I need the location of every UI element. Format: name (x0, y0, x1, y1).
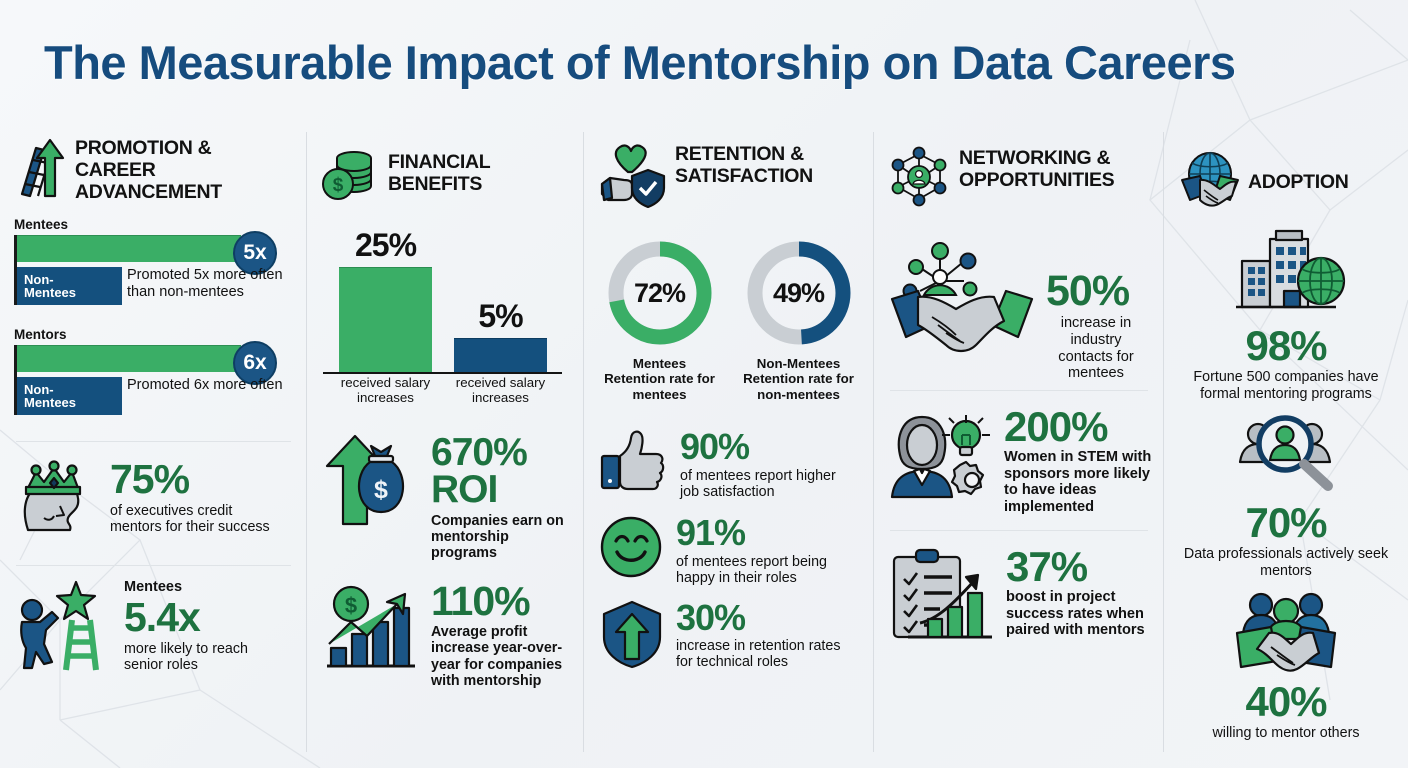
stat-body: 50% increase in industry contacts for me… (1046, 229, 1146, 382)
stat-willing-mentor: 40% willing to mentor others (1178, 589, 1394, 742)
donut-subtitle: Retention rate for mentees (598, 371, 721, 402)
stat-senior-roles: Mentees 5.4x more likely to reach senior… (14, 578, 293, 681)
stat-project-success: 37% boost in project success rates when … (888, 545, 1150, 646)
building-globe-icon (1178, 225, 1394, 322)
retention-donuts: 72% Mentees Retention rate for mentees 4… (598, 237, 860, 402)
chart-bar-mentees: 25% received salary increases (339, 267, 432, 372)
stat-desc: increase in retention rates for technica… (676, 638, 856, 671)
globe-handshake-icon (1178, 148, 1242, 215)
handshake-network-icon (888, 229, 1036, 366)
stat-body: 90% of mentees report higher job satisfa… (680, 428, 858, 500)
column-retention: RETENTION & SATISFACTION 72% Mentees Ret… (584, 128, 874, 768)
infographic-root: The Measurable Impact of Mentorship on D… (0, 0, 1408, 768)
divider (16, 565, 291, 566)
stat-body: 75% of executives credit mentors for the… (110, 458, 275, 535)
bar-note-mentees: Promoted 5x more often than non-mentees (127, 267, 302, 299)
column-financial: $ FINANCIAL BENEFITS 25% received salary… (307, 128, 584, 768)
ladder-arrow-icon (14, 136, 66, 203)
section-header-financial: $ FINANCIAL BENEFITS (321, 150, 570, 209)
section-title: NETWORKING & OPPORTUNITIES (959, 146, 1150, 192)
stat-profit-increase: $ 110% Average profit increase year-over… (321, 580, 570, 690)
stat-executives-credit: 75% of executives credit mentors for the… (14, 458, 293, 549)
stat-number: 5.4x (124, 598, 274, 637)
donut-percent: 72% (604, 237, 716, 349)
thumbs-up-icon (598, 428, 670, 499)
svg-text:$: $ (333, 175, 344, 196)
bar-group-label: Mentors (14, 327, 293, 342)
stat-number: 75% (110, 460, 275, 499)
up-arrow-money-bag-icon: $ (321, 432, 421, 535)
section-title: FINANCIAL BENEFITS (388, 150, 538, 196)
stat-number: 110% (431, 582, 583, 621)
columns-container: PROMOTION & CAREER ADVANCEMENT Mentees N… (0, 128, 1408, 768)
stat-number: 40% (1178, 682, 1394, 722)
bar-category-label: received salary increases (327, 372, 444, 406)
stat-women-stem: 200% Women in STEM with sponsors more li… (888, 405, 1150, 516)
crown-head-icon (14, 458, 100, 549)
section-header-networking: NETWORKING & OPPORTUNITIES (888, 146, 1150, 213)
stat-body: 670% ROI Companies earn on mentorship pr… (431, 432, 576, 562)
bar-blue-label-line1: Non- (24, 383, 122, 397)
page-title: The Measurable Impact of Mentorship on D… (44, 38, 1384, 87)
stat-body: 30% increase in retention rates for tech… (676, 599, 856, 671)
bar-value-label: 5% (454, 298, 547, 335)
coins-dollar-icon: $ (321, 150, 379, 209)
stat-number: 30% (676, 601, 856, 636)
bar-green-mentees (17, 235, 241, 262)
bar-rect (339, 267, 432, 372)
dollar-growth-chart-icon: $ (321, 580, 421, 677)
stat-fortune500: 98% Fortune 500 companies have formal me… (1178, 225, 1394, 402)
stat-desc: more likely to reach senior roles (124, 641, 274, 674)
bar-note-mentors: Promoted 6x more often (127, 377, 302, 393)
column-promotion: PROMOTION & CAREER ADVANCEMENT Mentees N… (0, 128, 307, 768)
section-title: ADOPTION (1248, 170, 1349, 194)
donut-chart: 49% (743, 237, 855, 349)
stat-happy-roles: 91% of mentees report being happy in the… (598, 514, 860, 586)
stat-number: 50% (1046, 271, 1146, 312)
stat-desc: of mentees report higher job satisfactio… (680, 468, 858, 501)
person-ladder-star-icon (14, 578, 114, 681)
stat-desc: Fortune 500 companies have formal mentor… (1178, 369, 1394, 402)
woman-bulb-gear-icon (888, 405, 994, 506)
stat-desc: of executives credit mentors for their s… (110, 503, 275, 536)
section-title: RETENTION & SATISFACTION (675, 142, 855, 188)
financial-bar-chart: 25% received salary increases 5% receive… (321, 229, 570, 404)
bar-category-label: received salary increases (442, 372, 559, 406)
stat-body: 110% Average profit increase year-over-y… (431, 580, 583, 690)
donut-chart: 72% (604, 237, 716, 349)
stat-number: 90% (680, 430, 858, 465)
stat-technical-retention: 30% increase in retention rates for tech… (598, 599, 860, 674)
stat-body: 200% Women in STEM with sponsors more li… (1004, 405, 1156, 516)
stat-job-satisfaction: 90% of mentees report higher job satisfa… (598, 428, 860, 500)
donut-non-mentees: 49% Non-Mentees Retention rate for non-m… (737, 237, 860, 402)
column-adoption: ADOPTION (1164, 128, 1408, 768)
bar-rect (454, 338, 547, 372)
svg-text:$: $ (374, 476, 388, 504)
stat-desc: Average profit increase year-over-year f… (431, 624, 583, 689)
bar-blue-label-line1: Non- (24, 273, 122, 287)
bar-blue-label-line2: Mentees (24, 396, 122, 410)
divider (890, 530, 1148, 531)
donut-percent: 49% (743, 237, 855, 349)
stat-seek-mentors: 70% Data professionals actively seek men… (1178, 414, 1394, 579)
bar-blue-non-mentees: Non- Mentees (17, 377, 122, 415)
chart-bar-non-mentees: 5% received salary increases (454, 338, 547, 372)
stat-number: 37% (1006, 547, 1158, 587)
stat-number-suffix: ROI (431, 471, 576, 508)
stat-desc: Data professionals actively seek mentors (1178, 546, 1394, 579)
bar-green-mentors (17, 345, 241, 372)
section-header-adoption: ADOPTION (1178, 148, 1394, 215)
stat-body: 91% of mentees report being happy in the… (676, 514, 856, 586)
magnifier-people-icon (1178, 414, 1394, 499)
stat-desc: Women in STEM with sponsors more likely … (1004, 449, 1156, 516)
donut-caption: Non-Mentees Retention rate for non-mente… (737, 356, 860, 402)
donut-title: Mentees (598, 356, 721, 371)
bar-group-label: Mentees (14, 217, 293, 232)
shield-arrow-up-icon (598, 599, 666, 674)
svg-text:$: $ (345, 593, 357, 618)
bar-blue-label-line2: Mentees (24, 286, 122, 300)
donut-title: Non-Mentees (737, 356, 860, 371)
stat-body: 37% boost in project success rates when … (1006, 545, 1158, 639)
stat-desc: willing to mentor others (1178, 725, 1394, 741)
clipboard-growth-chart-icon (888, 545, 996, 646)
stat-desc: increase in industry contacts for mentee… (1046, 315, 1146, 382)
network-person-icon (888, 146, 950, 213)
stat-desc: Companies earn on mentorship programs (431, 513, 576, 562)
heart-hand-shield-icon (598, 142, 666, 213)
stat-number: 91% (676, 516, 856, 551)
stat-number: 670% (431, 434, 576, 471)
stat-desc: boost in project success rates when pair… (1006, 589, 1158, 639)
divider (16, 441, 291, 442)
stat-number: 98% (1178, 326, 1394, 366)
column-networking: NETWORKING & OPPORTUNITIES (874, 128, 1164, 768)
bar-value-label: 25% (339, 227, 432, 264)
stat-number: 200% (1004, 407, 1156, 447)
bar-blue-non-mentees: Non- Mentees (17, 267, 122, 305)
stat-desc: of mentees report being happy in their r… (676, 554, 856, 587)
section-header-promotion: PROMOTION & CAREER ADVANCEMENT (14, 136, 293, 203)
bar-block-mentors: Mentors Non- Mentees 6x Promoted 6x more… (14, 327, 293, 415)
donut-subtitle: Retention rate for non-mentees (737, 371, 860, 402)
stat-industry-contacts: 50% increase in industry contacts for me… (888, 229, 1150, 382)
smiley-face-icon (598, 514, 666, 585)
stat-roi: $ 670% ROI Companies earn on mentorship … (321, 432, 570, 562)
stat-number: 70% (1178, 503, 1394, 543)
stat-body: Mentees 5.4x more likely to reach senior… (124, 578, 274, 673)
donut-mentees: 72% Mentees Retention rate for mentees (598, 237, 721, 402)
bar-block-mentees: Mentees Non- Mentees 5x Promoted 5x more… (14, 217, 293, 305)
section-title: PROMOTION & CAREER ADVANCEMENT (75, 136, 293, 203)
people-handshake-icon (1178, 589, 1394, 678)
section-header-retention: RETENTION & SATISFACTION (598, 142, 860, 213)
donut-caption: Mentees Retention rate for mentees (598, 356, 721, 402)
divider (890, 390, 1148, 391)
